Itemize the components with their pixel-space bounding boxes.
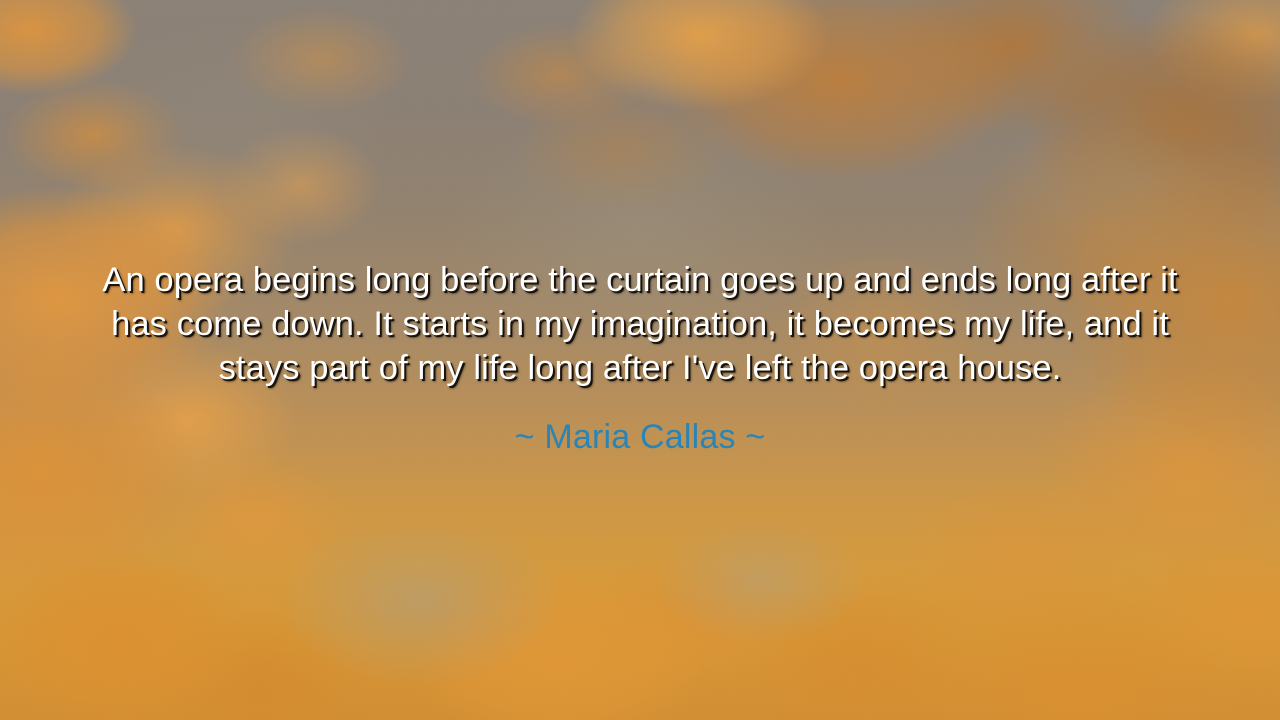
quote-text: An opera begins long before the curtain … <box>100 258 1180 390</box>
quote-attribution: ~ Maria Callas ~ <box>100 390 1180 458</box>
quote-image-canvas: An opera begins long before the curtain … <box>0 0 1280 720</box>
quote-block: An opera begins long before the curtain … <box>0 258 1280 458</box>
